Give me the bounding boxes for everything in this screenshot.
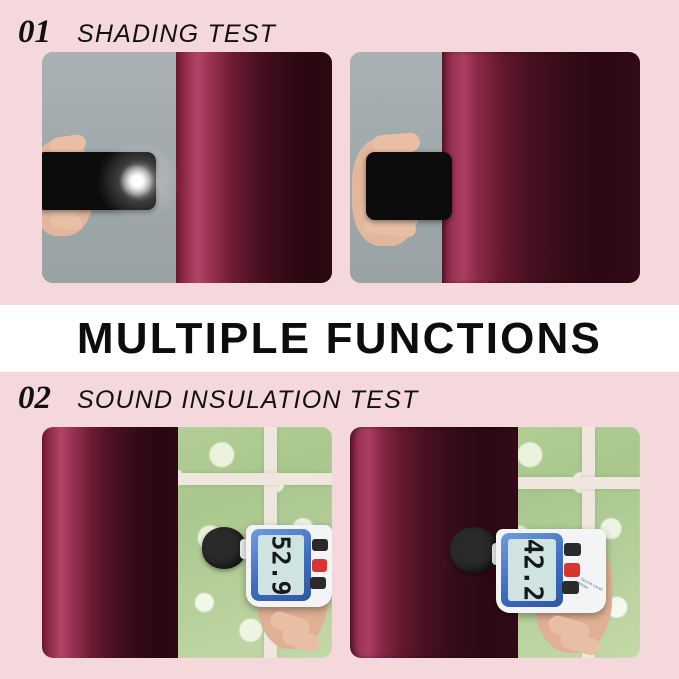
section-01-number: 01 — [18, 14, 51, 51]
meter-reading-value: 42.2 — [517, 539, 547, 601]
meter-record-button — [312, 559, 327, 572]
section-02-title: SOUND INSULATION TEST — [77, 386, 418, 415]
section-02-header: 02 SOUND INSULATION TEST — [0, 380, 679, 420]
meter-power-button — [564, 543, 581, 556]
meter-power-button — [312, 539, 328, 551]
section-02-number: 02 — [18, 380, 51, 417]
microphone-windscreen — [450, 527, 498, 573]
sound-level-meter: 52.9 — [202, 519, 332, 607]
meter-lcd-display: 52.9 — [258, 535, 304, 595]
banner-title: MULTIPLE FUNCTIONS — [77, 314, 602, 364]
meter-reading-value: 52.9 — [267, 535, 296, 595]
smartphone — [366, 152, 452, 220]
flashlight-beam — [120, 164, 154, 198]
meter-record-button — [564, 563, 580, 577]
curtain-burgundy — [42, 427, 178, 658]
meter-mode-button — [310, 577, 326, 589]
section-01-header: 01 SHADING TEST — [0, 14, 679, 54]
shading-test-panel-light-on — [42, 52, 332, 283]
section-01-title: SHADING TEST — [77, 20, 276, 49]
curtain-burgundy — [176, 52, 332, 283]
shading-test-panel-row — [0, 52, 679, 287]
sound-test-panel-curtain-closed: 42.2 Sound Level Meter — [350, 427, 640, 658]
sound-insulation-panel-row: 52.9 42.2 Sound Level M — [0, 427, 679, 662]
sound-test-panel-window-open: 52.9 — [42, 427, 332, 658]
curtain-burgundy — [442, 52, 640, 283]
meter-mode-button — [562, 581, 579, 594]
sound-level-meter: 42.2 Sound Level Meter — [450, 521, 610, 617]
banner-multiple-functions: MULTIPLE FUNCTIONS — [0, 305, 679, 372]
meter-lcd-display: 42.2 — [508, 539, 556, 601]
shading-test-panel-light-blocked — [350, 52, 640, 283]
